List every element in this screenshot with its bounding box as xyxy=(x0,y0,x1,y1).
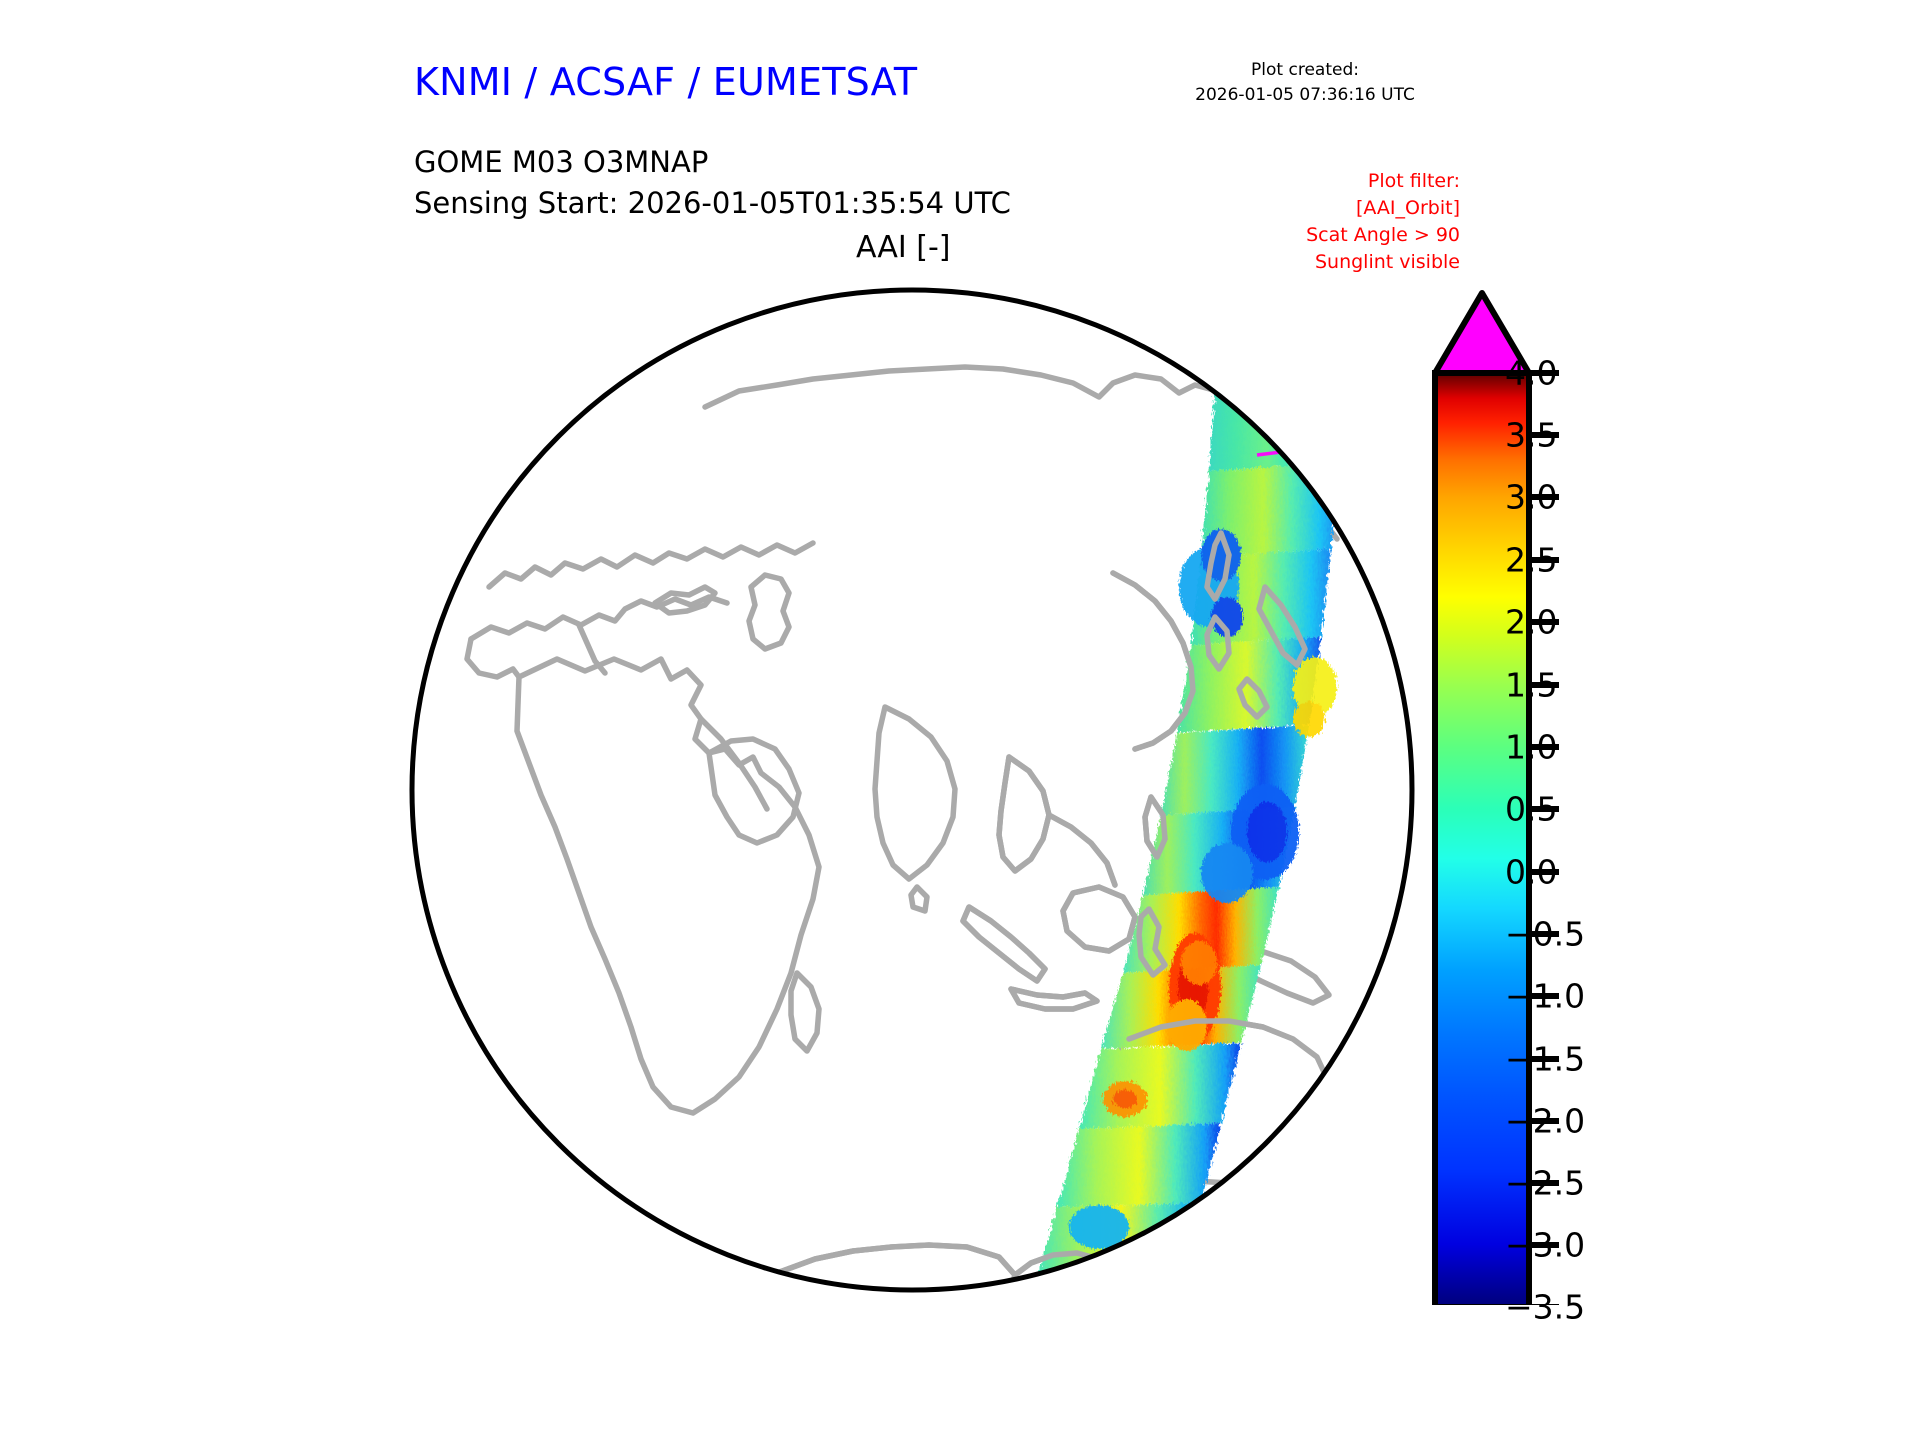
filter-line-3: Sunglint visible xyxy=(1160,249,1460,276)
plot-created-label: Plot created: xyxy=(1155,58,1455,83)
page-title: AAI [-] xyxy=(856,230,951,265)
colorbar-tick-0: 4.0 xyxy=(1505,357,1557,390)
orthographic-map xyxy=(409,287,1415,1293)
colorbar-tick-1: 3.5 xyxy=(1505,419,1557,452)
colorbar-tick-9: −0.5 xyxy=(1505,918,1585,951)
colorbar-tick-5: 1.5 xyxy=(1505,669,1557,702)
colorbar-tick-15: −3.5 xyxy=(1505,1291,1585,1324)
filter-line-2: Scat Angle > 90 xyxy=(1160,222,1460,249)
colorbar-tick-6: 1.0 xyxy=(1505,731,1557,764)
colorbar-tick-13: −2.5 xyxy=(1505,1167,1585,1200)
colorbar: 4.0 3.5 3.0 2.5 2.0 1.5 1.0 0.5 0.0 −0.5… xyxy=(1425,285,1825,1305)
colorbar-tick-3: 2.5 xyxy=(1505,544,1557,577)
plot-created-block: Plot created: 2026-01-05 07:36:16 UTC xyxy=(1155,58,1455,107)
colorbar-tick-7: 0.5 xyxy=(1505,793,1557,826)
filter-line-0: Plot filter: xyxy=(1160,168,1460,195)
colorbar-tick-4: 2.0 xyxy=(1505,606,1557,639)
colorbar-tick-8: 0.0 xyxy=(1505,856,1557,889)
colorbar-tick-12: −2.0 xyxy=(1505,1105,1585,1138)
colorbar-tick-14: −3.0 xyxy=(1505,1229,1585,1262)
plot-created-time: 2026-01-05 07:36:16 UTC xyxy=(1155,83,1455,108)
colorbar-tick-2: 3.0 xyxy=(1505,481,1557,514)
sensing-start: Sensing Start: 2026-01-05T01:35:54 UTC xyxy=(414,183,1011,224)
colorbar-tick-labels: 4.0 3.5 3.0 2.5 2.0 1.5 1.0 0.5 0.0 −0.5… xyxy=(1505,285,1685,1305)
organisation-title: KNMI / ACSAF / EUMETSAT xyxy=(414,60,917,104)
product-name: GOME M03 O3MNAP xyxy=(414,142,1011,183)
filter-line-1: [AAI_Orbit] xyxy=(1160,195,1460,222)
product-info-block: GOME M03 O3MNAP Sensing Start: 2026-01-0… xyxy=(414,142,1011,224)
colorbar-tick-11: −1.5 xyxy=(1505,1043,1585,1076)
plot-filter-block: Plot filter: [AAI_Orbit] Scat Angle > 90… xyxy=(1160,168,1460,276)
colorbar-tick-10: −1.0 xyxy=(1505,980,1585,1013)
